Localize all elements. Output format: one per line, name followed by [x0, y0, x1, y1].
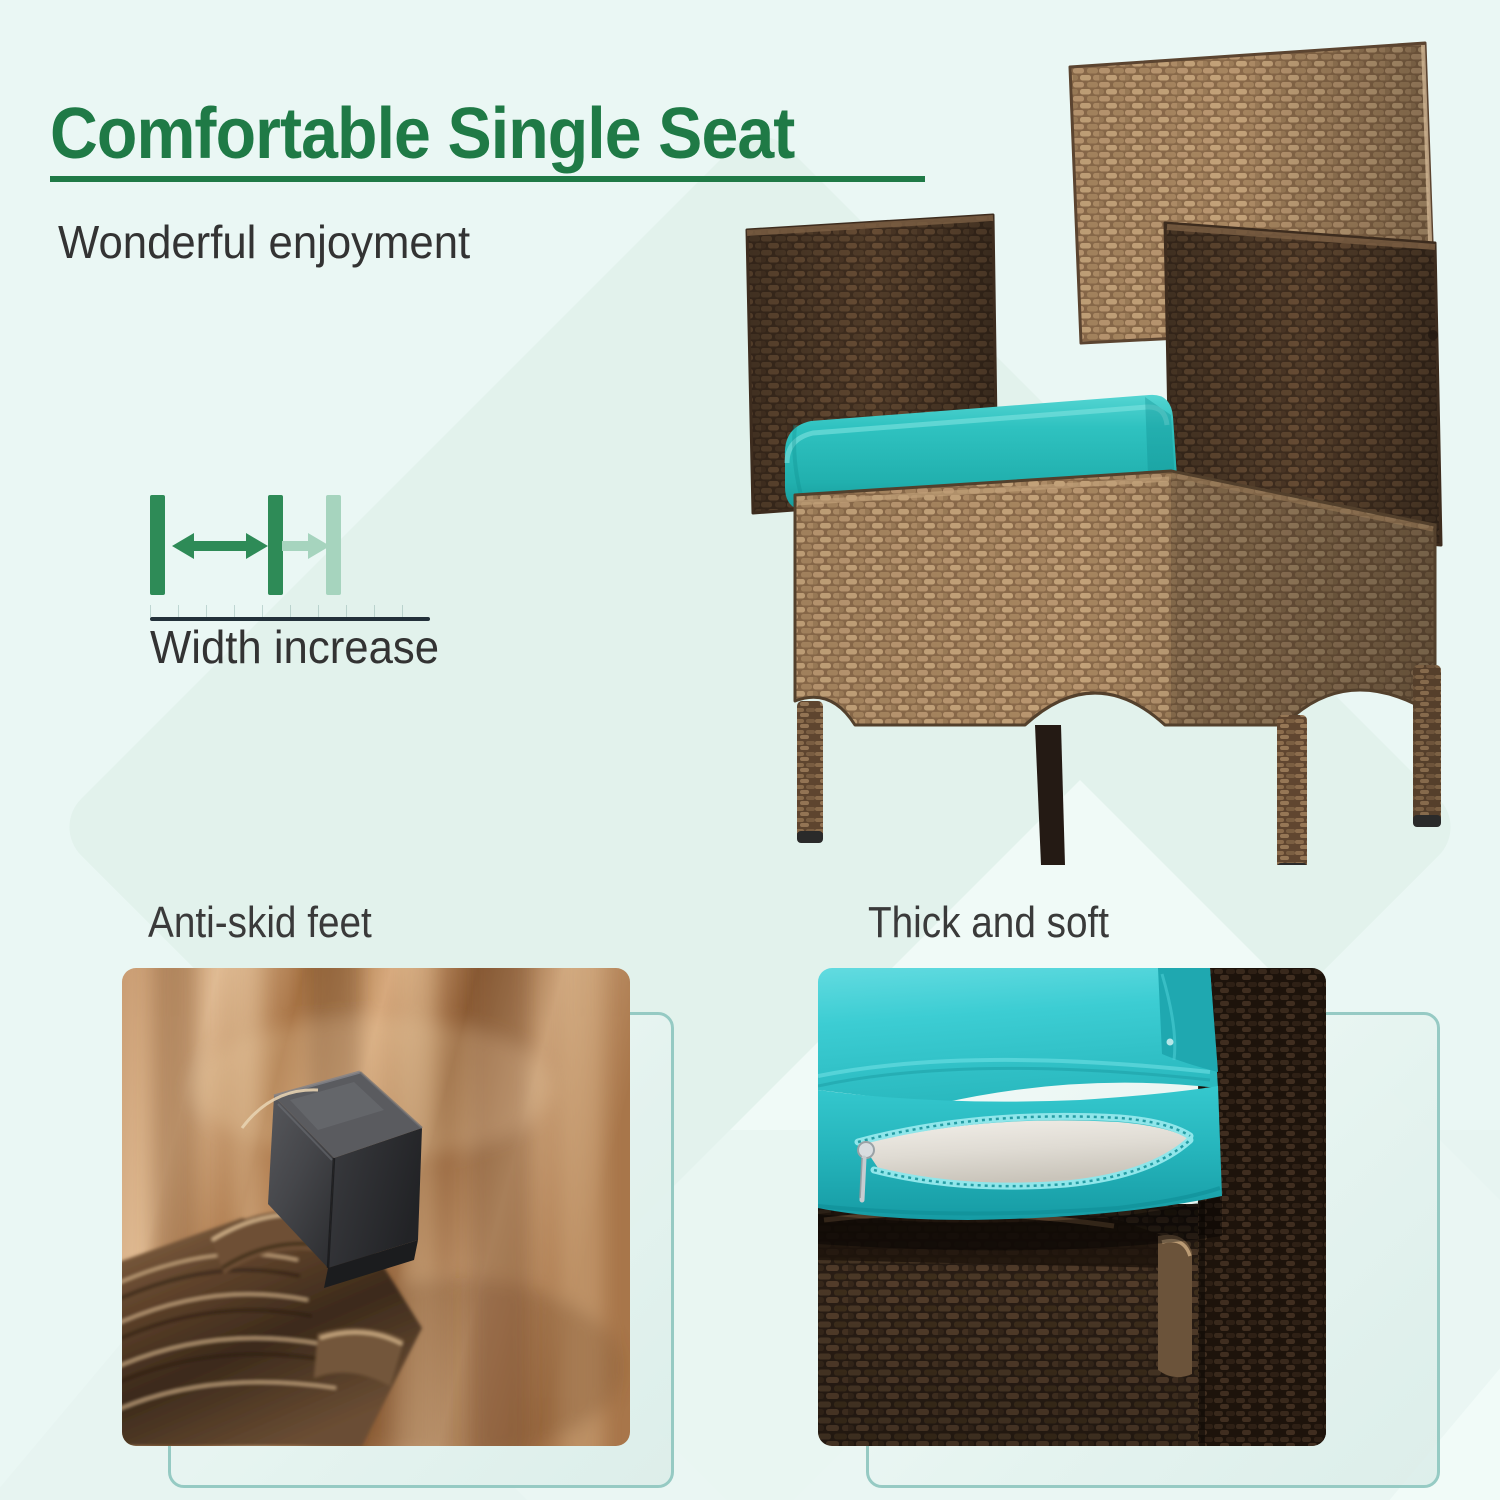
- page-subtitle: Wonderful enjoyment: [58, 215, 470, 269]
- wicker-armchair-photo: [735, 25, 1500, 865]
- anti-skid-foot-photo: [122, 968, 630, 1446]
- measure-bar-left: [150, 495, 165, 595]
- measure-arrows: [172, 532, 372, 560]
- caption-anti-skid-feet: Anti-skid feet: [148, 897, 372, 949]
- caption-thick-and-soft: Thick and soft: [868, 897, 1109, 949]
- ruler-ticks: [150, 605, 430, 617]
- cushion-zipper-photo: [818, 968, 1326, 1446]
- page-root: Comfortable Single Seat Wonderful enjoym…: [0, 0, 1500, 1500]
- title-underline: [50, 176, 925, 182]
- width-increase-label: Width increase: [150, 620, 439, 674]
- page-title: Comfortable Single Seat: [50, 96, 794, 172]
- width-increase-icon: [150, 495, 450, 610]
